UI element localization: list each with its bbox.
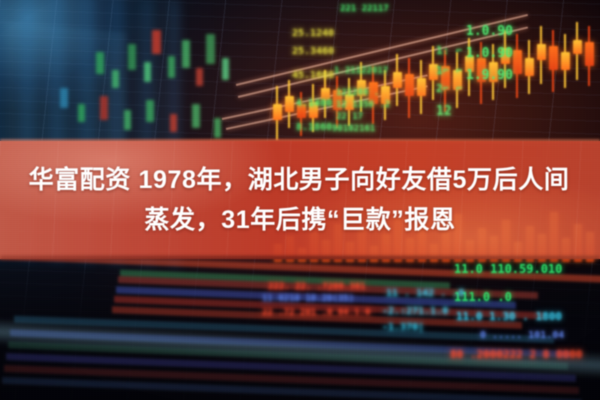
quote-value: -1.370| [382, 322, 424, 333]
quote-value: 11.0 110.59.010 [454, 262, 562, 276]
quote-value: 11.0210 10.20(35) [262, 294, 354, 304]
quote-value: 11 . 142 . .0 [386, 288, 464, 299]
headline-line-1: 华富配资 1978年，湖北男子向好友借5万后人间 [29, 162, 572, 198]
headline-block: 华富配资 1978年，湖北男子向好友借5万后人间 蒸发，31年后携“巨款”报恩 [0, 141, 600, 259]
quote-value: 80 .2000222 2 0 0000 [450, 348, 582, 361]
quote-value: 22 .72 201 .0 04.1.0 [262, 308, 370, 318]
quote-value: 0 ..... 101.04 [480, 330, 564, 341]
stock-market-photo: 1.0.901.0.901.9.901: ⌐1⌐ ⌐2⌐ ⌐1225.12402… [0, 0, 600, 400]
quote-value: -2.:271.1.0 [382, 306, 448, 317]
quote-value: 222. 22. .7200.301 [268, 282, 366, 292]
quote-value: 11.0 1.30 . 1800 [456, 310, 562, 323]
headline-line-2: 蒸发，31年后携“巨款”报恩 [144, 202, 455, 238]
